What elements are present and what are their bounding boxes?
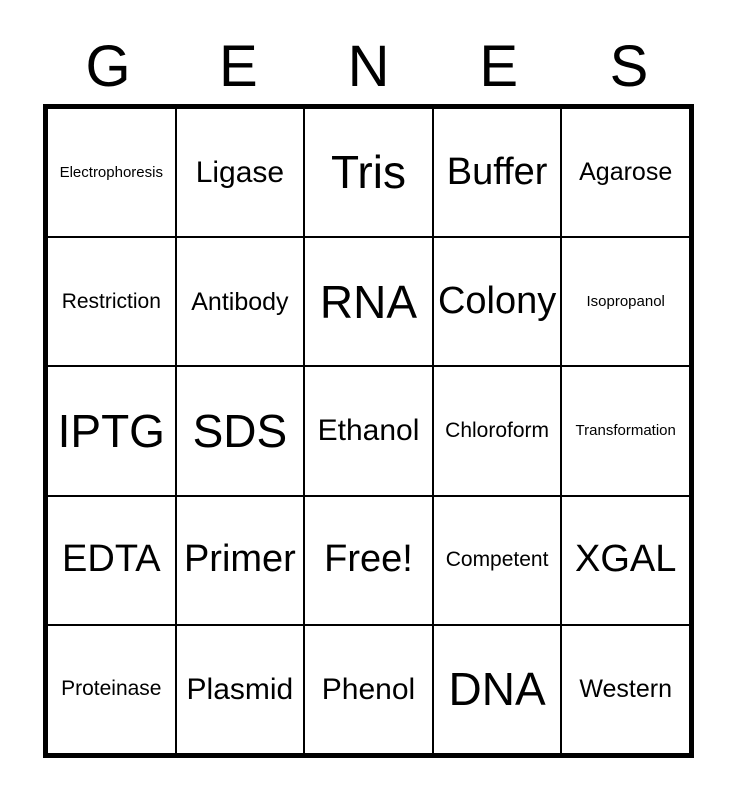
bingo-cell-r5c1[interactable]: Proteinase: [48, 626, 175, 753]
bingo-cell-r3c5[interactable]: Transformation: [562, 367, 689, 494]
bingo-cell-free-space[interactable]: Free!: [305, 497, 432, 624]
bingo-cell-r1c3[interactable]: Tris: [305, 109, 432, 236]
header-letter-4: S: [564, 36, 694, 98]
bingo-cell-r2c4[interactable]: Colony: [434, 238, 561, 365]
bingo-cell-label: Restriction: [62, 291, 161, 313]
bingo-cell-r1c1[interactable]: Electrophoresis: [48, 109, 175, 236]
bingo-cell-r1c2[interactable]: Ligase: [177, 109, 304, 236]
bingo-header: G E N E S: [43, 34, 694, 100]
bingo-cell-r2c1[interactable]: Restriction: [48, 238, 175, 365]
bingo-cell-label: Ethanol: [318, 415, 420, 447]
bingo-cell-label: Tris: [331, 148, 406, 196]
bingo-cell-r4c1[interactable]: EDTA: [48, 497, 175, 624]
bingo-cell-label: Phenol: [322, 674, 415, 706]
bingo-cell-label: Antibody: [191, 289, 288, 315]
header-letter-1: E: [173, 36, 303, 98]
bingo-cell-label: Transformation: [576, 423, 676, 439]
bingo-cell-r4c2[interactable]: Primer: [177, 497, 304, 624]
bingo-cell-label: Competent: [446, 549, 549, 571]
bingo-cell-label: Proteinase: [61, 678, 161, 700]
bingo-cell-label: Ligase: [196, 157, 284, 189]
bingo-card: G E N E S Electrophoresis Ligase Tris Bu…: [0, 0, 737, 800]
bingo-cell-label: Buffer: [447, 153, 548, 193]
bingo-cell-r3c4[interactable]: Chloroform: [434, 367, 561, 494]
bingo-cell-label: Agarose: [579, 159, 672, 185]
header-letter-2: N: [303, 36, 433, 98]
bingo-cell-r5c3[interactable]: Phenol: [305, 626, 432, 753]
bingo-cell-label: RNA: [320, 278, 417, 326]
bingo-cell-r5c5[interactable]: Western: [562, 626, 689, 753]
bingo-cell-label: Electrophoresis: [60, 165, 163, 181]
bingo-cell-r5c4[interactable]: DNA: [434, 626, 561, 753]
bingo-cell-r5c2[interactable]: Plasmid: [177, 626, 304, 753]
bingo-cell-r2c3[interactable]: RNA: [305, 238, 432, 365]
bingo-cell-r4c4[interactable]: Competent: [434, 497, 561, 624]
free-space-label: Free!: [324, 540, 413, 580]
bingo-cell-r3c3[interactable]: Ethanol: [305, 367, 432, 494]
bingo-cell-label: EDTA: [62, 540, 161, 580]
bingo-cell-label: IPTG: [58, 407, 165, 455]
bingo-cell-r2c2[interactable]: Antibody: [177, 238, 304, 365]
bingo-cell-r2c5[interactable]: Isopropanol: [562, 238, 689, 365]
bingo-cell-label: SDS: [193, 407, 288, 455]
bingo-cell-label: XGAL: [575, 540, 676, 580]
bingo-cell-r1c4[interactable]: Buffer: [434, 109, 561, 236]
bingo-cell-label: Plasmid: [187, 674, 294, 706]
bingo-cell-label: Isopropanol: [586, 294, 664, 310]
bingo-cell-label: Primer: [184, 540, 296, 580]
bingo-cell-label: Western: [579, 676, 672, 702]
bingo-cell-r1c5[interactable]: Agarose: [562, 109, 689, 236]
header-letter-3: E: [434, 36, 564, 98]
bingo-cell-label: DNA: [449, 665, 546, 713]
bingo-cell-r3c1[interactable]: IPTG: [48, 367, 175, 494]
bingo-cell-r4c5[interactable]: XGAL: [562, 497, 689, 624]
bingo-grid: Electrophoresis Ligase Tris Buffer Agaro…: [43, 104, 694, 758]
bingo-cell-label: Chloroform: [445, 420, 549, 442]
bingo-cell-r3c2[interactable]: SDS: [177, 367, 304, 494]
header-letter-0: G: [43, 36, 173, 98]
bingo-cell-label: Colony: [438, 282, 556, 322]
